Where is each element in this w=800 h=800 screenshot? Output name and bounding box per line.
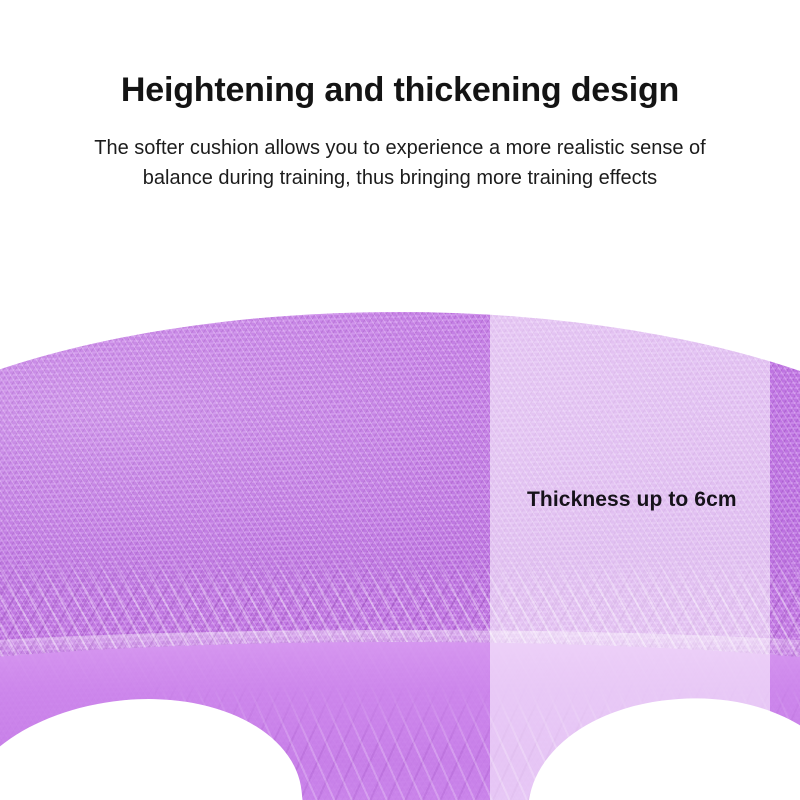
header-text-block: Heightening and thickening design The so… (0, 0, 800, 193)
subtitle-line-1: The softer cushion allows you to experie… (64, 133, 736, 163)
thickness-callout-label: Thickness up to 6cm (527, 488, 737, 512)
page-title: Heightening and thickening design (0, 0, 800, 109)
subtitle: The softer cushion allows you to experie… (64, 109, 736, 193)
product-feature-banner: Heightening and thickening design The so… (0, 0, 800, 800)
subtitle-line-2: balance during training, thus bringing m… (64, 163, 736, 193)
